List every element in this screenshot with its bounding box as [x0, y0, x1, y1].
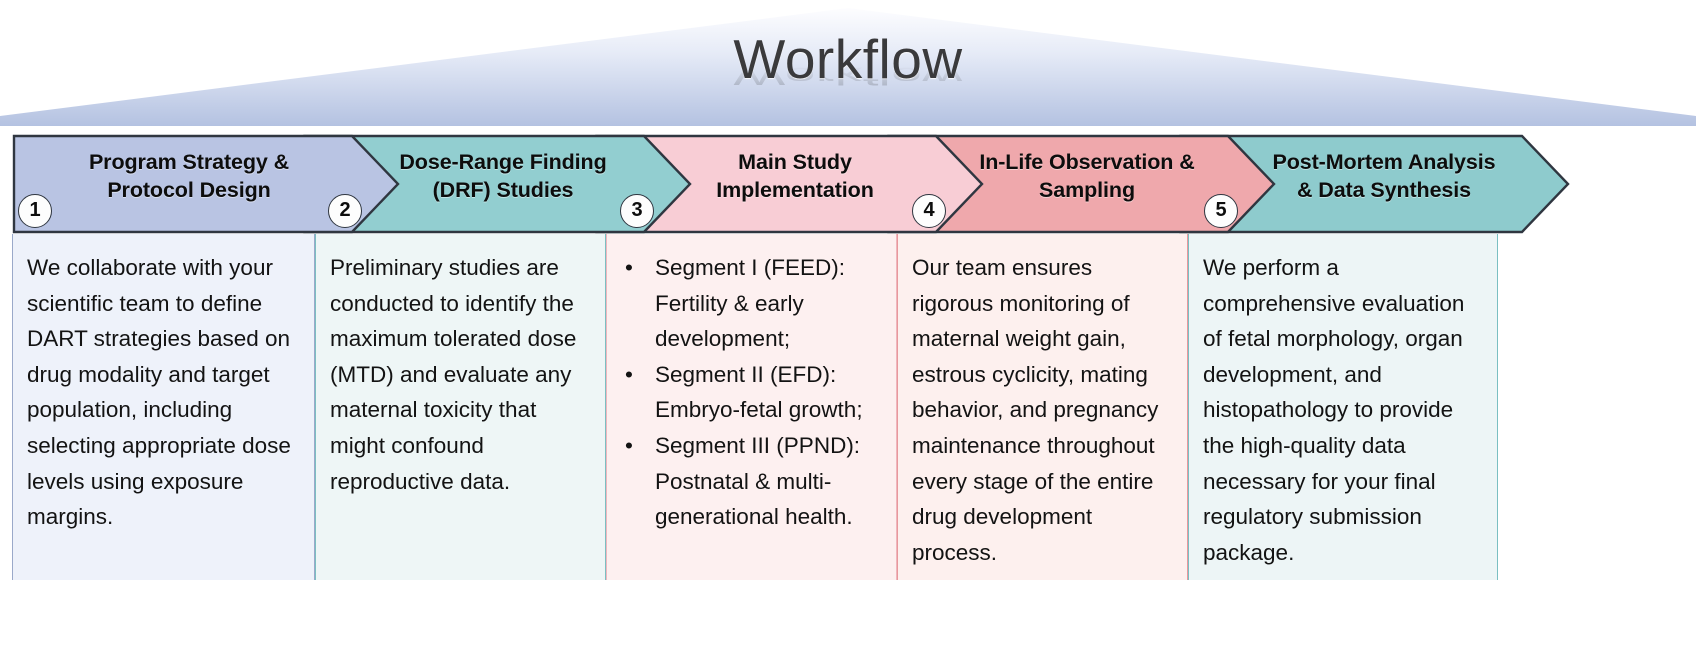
step-5-title-line1: Post-Mortem Analysis: [1272, 150, 1495, 174]
step-3-bullet-2: Segment II (EFD): Embryo-fetal growth;: [655, 362, 863, 423]
step-2-body-text: Preliminary studies are conducted to ide…: [330, 250, 591, 499]
step-5-title-line2: & Data Synthesis: [1297, 178, 1471, 202]
step-2-title-line2: (DRF) Studies: [433, 178, 574, 202]
step-2-title: Dose-Range Finding (DRF) Studies: [358, 148, 648, 205]
step-4-body-panel: Our team ensures rigorous monitoring of …: [897, 234, 1188, 580]
step-4-title-line1: In-Life Observation &: [979, 150, 1194, 174]
step-3-bullet-list: •Segment I (FEED): Fertility & early dev…: [621, 250, 882, 535]
step-header-row: Program Strategy & Protocol Design Dose-…: [12, 134, 1684, 234]
list-item: •Segment I (FEED): Fertility & early dev…: [621, 250, 882, 357]
step-3-bullet-1: Segment I (FEED): Fertility & early deve…: [655, 255, 845, 351]
step-1-body-panel: We collaborate with your scientific team…: [12, 234, 315, 580]
step-4-title: In-Life Observation & Sampling: [942, 148, 1232, 205]
step-4-number-badge: 4: [912, 194, 946, 228]
step-3-title-line2: Implementation: [716, 178, 873, 202]
step-4-title-line2: Sampling: [1039, 178, 1135, 202]
banner: Workflow Workflow: [0, 8, 1696, 126]
step-2-number-badge: 2: [328, 194, 362, 228]
step-3-bullet-3: Segment III (PPND): Postnatal & multi-ge…: [655, 433, 860, 529]
step-2-title-line1: Dose-Range Finding: [399, 150, 606, 174]
step-3-title-line1: Main Study: [738, 150, 852, 174]
step-5-body-text: We perform a comprehensive evaluation of…: [1203, 250, 1483, 570]
step-1-body-text: We collaborate with your scientific team…: [27, 250, 300, 535]
step-2-body-panel: Preliminary studies are conducted to ide…: [315, 234, 606, 580]
step-5-number-badge: 5: [1204, 194, 1238, 228]
step-5-body-panel: We perform a comprehensive evaluation of…: [1188, 234, 1498, 580]
step-4-body-text: Our team ensures rigorous monitoring of …: [912, 250, 1173, 570]
bullet-icon: •: [625, 428, 633, 464]
step-1-title: Program Strategy & Protocol Design: [24, 148, 354, 205]
page-title: Workflow: [0, 32, 1696, 87]
list-item: •Segment III (PPND): Postnatal & multi-g…: [621, 428, 882, 535]
bullet-icon: •: [625, 250, 633, 286]
list-item: •Segment II (EFD): Embryo-fetal growth;: [621, 357, 882, 428]
step-body-row: We collaborate with your scientific team…: [12, 234, 1684, 580]
step-3-number-badge: 3: [620, 194, 654, 228]
step-3-title: Main Study Implementation: [650, 148, 940, 205]
step-1-title-line1: Program Strategy &: [89, 150, 289, 174]
step-1-title-line2: Protocol Design: [107, 178, 270, 202]
step-3-body-panel: •Segment I (FEED): Fertility & early dev…: [606, 234, 897, 580]
step-5-title: Post-Mortem Analysis & Data Synthesis: [1234, 148, 1534, 205]
bullet-icon: •: [625, 357, 633, 393]
workflow-diagram: Workflow Workflow Program Strategy & Pro…: [0, 0, 1696, 658]
step-1-number-badge: 1: [18, 194, 52, 228]
